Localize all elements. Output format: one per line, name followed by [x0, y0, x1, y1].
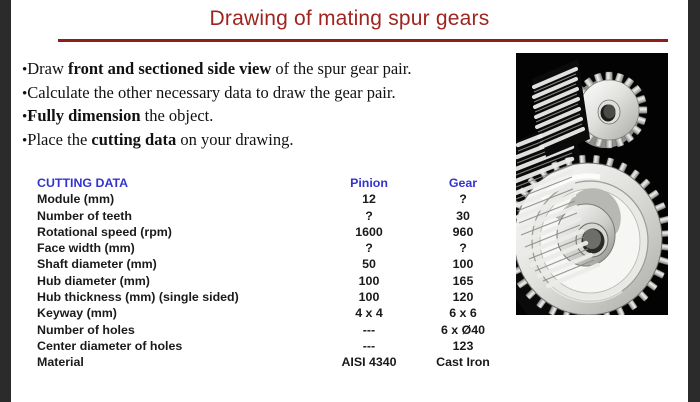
pinion-value: 100: [319, 273, 419, 289]
row-label: Module (mm): [37, 191, 319, 207]
gear-value: ?: [419, 191, 507, 207]
bullet-text-span: front and sectioned side view: [68, 59, 271, 78]
cutting-data-table: CUTTING DATAPinionGearModule (mm)12?Numb…: [37, 175, 507, 371]
right-edge-bar: [688, 0, 700, 402]
row-label: Material: [37, 354, 319, 370]
table-row: Shaft diameter (mm)50100: [37, 256, 507, 272]
gear-value: 6 x 6: [419, 305, 507, 321]
pinion-value: ?: [319, 208, 419, 224]
gear-value: ?: [419, 240, 507, 256]
gear-value: 165: [419, 273, 507, 289]
bullet-item: •Place the cutting data on your drawing.: [22, 129, 512, 153]
gear-illustration: [516, 53, 668, 315]
row-label: Keyway (mm): [37, 305, 319, 321]
row-label: Hub diameter (mm): [37, 273, 319, 289]
page-title: Drawing of mating spur gears: [11, 6, 688, 32]
row-label: Center diameter of holes: [37, 338, 319, 354]
table-row: Rotational speed (rpm)1600960: [37, 224, 507, 240]
table-row: Face width (mm)??: [37, 240, 507, 256]
pinion-value: 1600: [319, 224, 419, 240]
table-row: Keyway (mm)4 x 46 x 6: [37, 305, 507, 321]
bullet-item: •Fully dimension the object.: [22, 105, 512, 129]
pinion-value: 50: [319, 256, 419, 272]
left-edge-bar: [0, 0, 11, 402]
column-header: CUTTING DATA: [37, 175, 319, 191]
pinion-value: ---: [319, 322, 419, 338]
pinion-value: 4 x 4: [319, 305, 419, 321]
row-label: Shaft diameter (mm): [37, 256, 319, 272]
bullet-text-span: the object.: [141, 106, 214, 125]
bullet-text-span: Draw: [27, 59, 68, 78]
gear-value: 123: [419, 338, 507, 354]
table-row: Number of holes---6 x Ø40: [37, 322, 507, 338]
spur-gear-pair-photo: [516, 53, 668, 315]
table-row: Center diameter of holes---123: [37, 338, 507, 354]
gear-value: Cast Iron: [419, 354, 507, 370]
column-header: Gear: [419, 175, 507, 191]
slide-canvas: Drawing of mating spur gears •Draw front…: [11, 0, 688, 402]
title-block: Drawing of mating spur gears: [11, 6, 688, 32]
row-label: Hub thickness (mm) (single sided): [37, 289, 319, 305]
column-header: Pinion: [319, 175, 419, 191]
gear-value: 6 x Ø40: [419, 322, 507, 338]
table-row: Number of teeth?30: [37, 208, 507, 224]
bullet-text-span: Place the: [27, 130, 91, 149]
bullet-item: •Draw front and sectioned side view of t…: [22, 58, 512, 82]
row-label: Number of teeth: [37, 208, 319, 224]
table-row: MaterialAISI 4340Cast Iron: [37, 354, 507, 370]
cutting-data-header-row: CUTTING DATAPinionGear: [37, 175, 507, 191]
row-label: Number of holes: [37, 322, 319, 338]
cutting-data-body: CUTTING DATAPinionGearModule (mm)12?Numb…: [37, 175, 507, 371]
table-row: Module (mm)12?: [37, 191, 507, 207]
bullet-text-span: of the spur gear pair.: [271, 59, 411, 78]
table-row: Hub thickness (mm) (single sided)100120: [37, 289, 507, 305]
gear-value: 100: [419, 256, 507, 272]
pinion-value: AISI 4340: [319, 354, 419, 370]
slide-screenshot: Drawing of mating spur gears •Draw front…: [0, 0, 700, 402]
table-row: Hub diameter (mm)100165: [37, 273, 507, 289]
bullet-item: •Calculate the other necessary data to d…: [22, 82, 512, 106]
bullet-text-span: Calculate the other necessary data to dr…: [27, 83, 395, 102]
pinion-value: ---: [319, 338, 419, 354]
gear-value: 30: [419, 208, 507, 224]
row-label: Rotational speed (rpm): [37, 224, 319, 240]
bullet-text-span: cutting data: [91, 130, 176, 149]
pinion-value: 100: [319, 289, 419, 305]
row-label: Face width (mm): [37, 240, 319, 256]
task-bullet-list: •Draw front and sectioned side view of t…: [22, 58, 512, 152]
bullet-text-span: Fully dimension: [27, 106, 140, 125]
bullet-text-span: on your drawing.: [176, 130, 293, 149]
gear-value: 120: [419, 289, 507, 305]
gear-value: 960: [419, 224, 507, 240]
title-underline-rule: [58, 39, 668, 42]
pinion-value: 12: [319, 191, 419, 207]
pinion-value: ?: [319, 240, 419, 256]
